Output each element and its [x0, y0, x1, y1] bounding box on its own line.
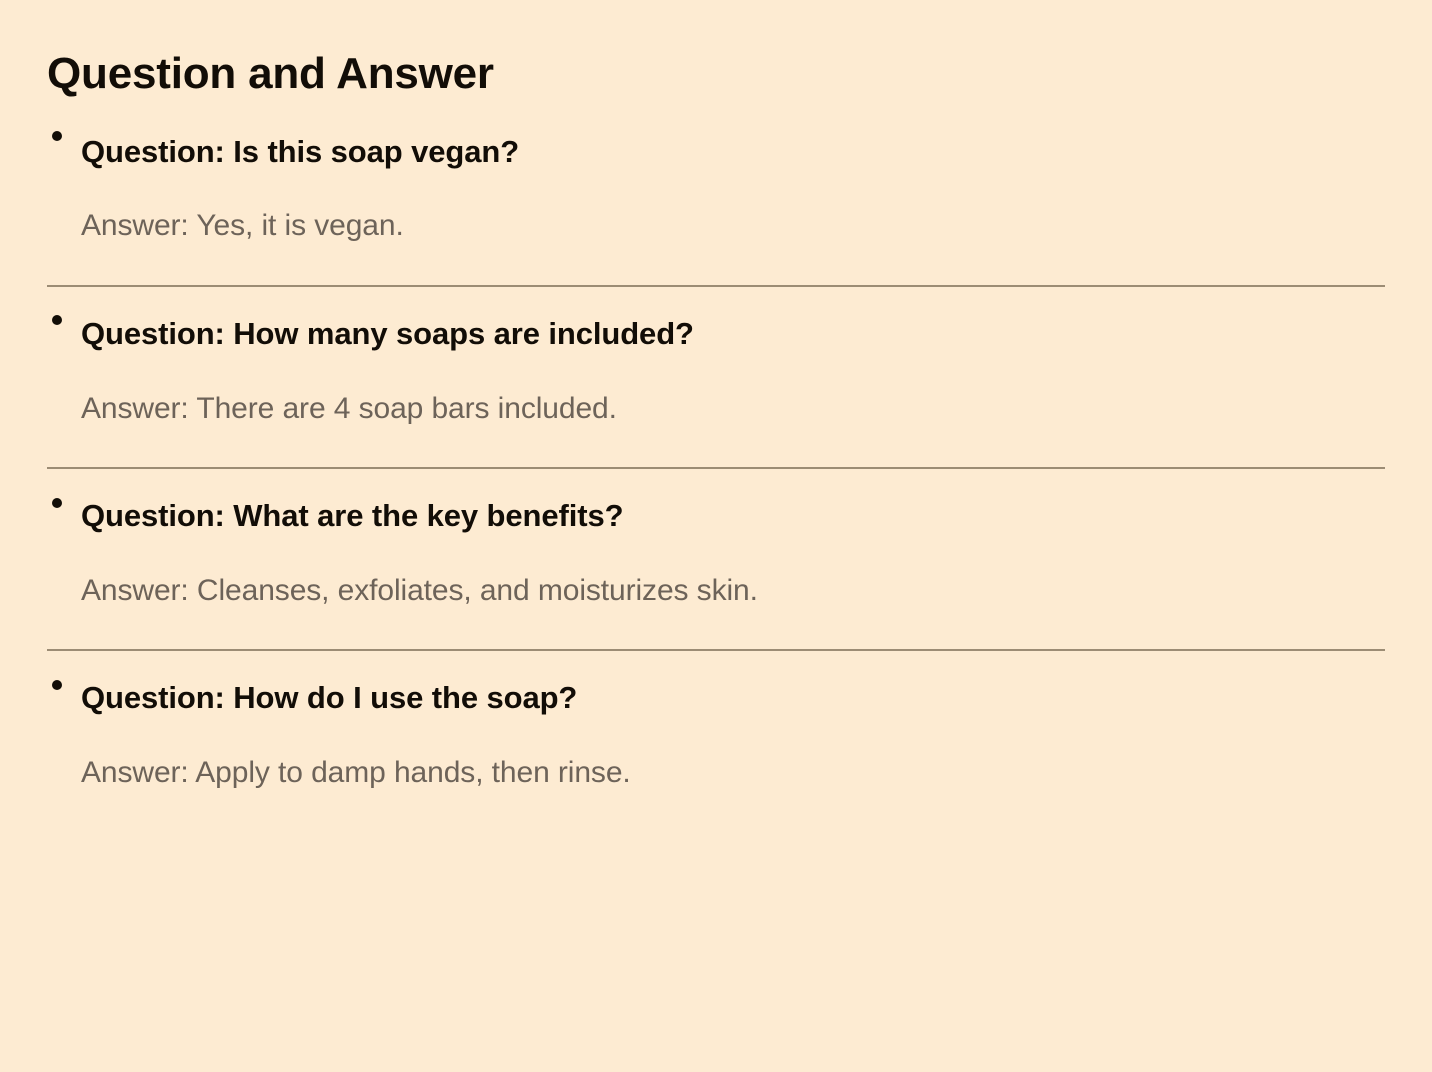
qa-answer: Answer: Apply to damp hands, then rinse. — [81, 718, 1385, 832]
qa-question: Question: Is this soap vegan? — [81, 101, 1385, 172]
qa-question-row: Question: How many soaps are included? — [81, 287, 1385, 354]
qa-question: Question: What are the key benefits? — [81, 469, 1385, 536]
qa-question: Question: How do I use the soap? — [81, 651, 1385, 718]
list-item: Question: How many soaps are included? A… — [47, 285, 1385, 467]
qa-list: Question: Is this soap vegan? Answer: Ye… — [47, 101, 1385, 832]
qa-question-row: Question: What are the key benefits? — [81, 469, 1385, 536]
qa-question-row: Question: How do I use the soap? — [81, 651, 1385, 718]
bullet-dot-icon — [52, 131, 62, 141]
bullet-dot-icon — [52, 498, 62, 508]
bullet-dot-icon — [52, 680, 62, 690]
qa-page: Question and Answer Question: Is this so… — [0, 0, 1432, 1072]
bullet-dot-icon — [52, 315, 62, 325]
list-item: Question: How do I use the soap? Answer:… — [47, 649, 1385, 831]
qa-answer: Answer: Yes, it is vegan. — [81, 171, 1385, 285]
qa-question-row: Question: Is this soap vegan? — [81, 101, 1385, 172]
list-item: Question: What are the key benefits? Ans… — [47, 467, 1385, 649]
qa-answer: Answer: Cleanses, exfoliates, and moistu… — [81, 536, 1385, 650]
qa-answer: Answer: There are 4 soap bars included. — [81, 354, 1385, 468]
qa-question: Question: How many soaps are included? — [81, 287, 1385, 354]
page-title: Question and Answer — [47, 0, 1385, 101]
list-item: Question: Is this soap vegan? Answer: Ye… — [47, 101, 1385, 285]
